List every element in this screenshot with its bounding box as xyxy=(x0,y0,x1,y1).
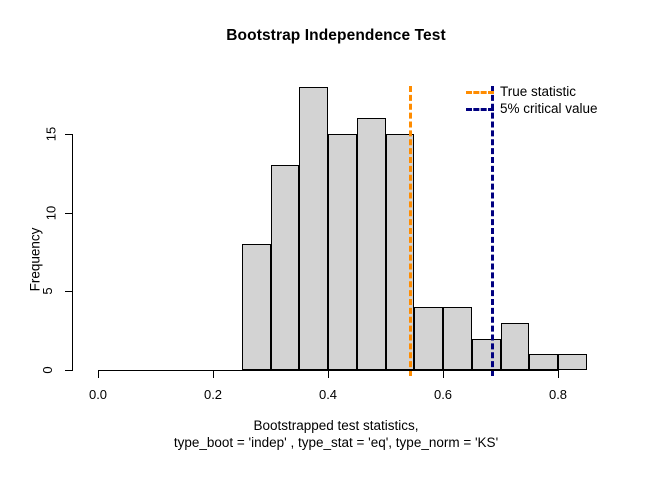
histogram-bar xyxy=(271,165,300,370)
legend-label-critical-value: 5% critical value xyxy=(500,101,598,116)
x-axis-tick xyxy=(98,371,99,378)
true-statistic-line xyxy=(409,86,412,376)
x-axis-tick-label: 0.8 xyxy=(549,387,567,402)
legend-key-true-statistic xyxy=(466,91,494,94)
y-axis-tick-label: 15 xyxy=(44,127,59,141)
x-axis-tick xyxy=(443,371,444,378)
histogram-bar xyxy=(529,354,558,370)
y-axis-tick xyxy=(65,370,72,371)
plot-panel: 0.00.20.40.60.8 051015 Frequency Bootstr… xyxy=(0,0,672,480)
legend-label-true-statistic: True statistic xyxy=(500,84,576,99)
y-axis-line xyxy=(72,134,73,371)
x-axis-title-line-1: Bootstrapped test statistics, xyxy=(0,417,672,434)
x-axis-tick-label: 0.2 xyxy=(204,387,222,402)
x-axis-title: Bootstrapped test statistics, type_boot … xyxy=(0,417,672,451)
chart-legend: True statistic 5% critical value xyxy=(466,84,666,124)
chart-canvas: Bootstrap Independence Test 0.00.20.40.6… xyxy=(0,0,672,480)
y-axis-title: Frequency xyxy=(28,200,43,320)
histogram-bar xyxy=(242,244,271,370)
histogram-bar xyxy=(443,307,472,370)
x-axis-tick-label: 0.0 xyxy=(89,387,107,402)
histogram-bar xyxy=(558,354,587,370)
y-axis-tick xyxy=(65,291,72,292)
y-axis-tick-label: 10 xyxy=(44,205,59,219)
histogram-bar xyxy=(357,118,386,370)
y-axis-tick xyxy=(65,213,72,214)
y-axis-tick xyxy=(65,134,72,135)
x-axis-tick xyxy=(213,371,214,378)
x-axis-tick-label: 0.6 xyxy=(434,387,452,402)
legend-key-critical-value xyxy=(466,108,494,111)
x-axis-tick xyxy=(558,371,559,378)
critical-value-line xyxy=(491,86,494,376)
y-axis-tick-label: 0 xyxy=(40,366,55,373)
histogram-bar xyxy=(501,323,530,370)
histogram-bar xyxy=(472,339,501,370)
histogram-bar xyxy=(328,134,357,370)
histogram-bar xyxy=(299,87,328,370)
histogram-bar xyxy=(414,307,443,370)
x-axis-tick-label: 0.4 xyxy=(319,387,337,402)
x-axis-title-line-2: type_boot = 'indep' , type_stat = 'eq', … xyxy=(0,434,672,451)
x-axis-tick xyxy=(328,371,329,378)
